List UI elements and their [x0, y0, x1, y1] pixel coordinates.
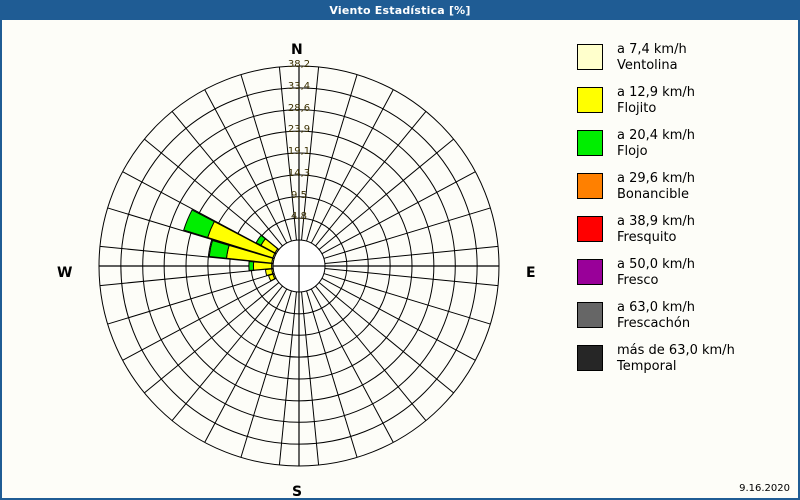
legend: a 7,4 km/hVentolinaa 12,9 km/hFlojitoa 2… [577, 42, 795, 386]
legend-item: a 12,9 km/hFlojito [577, 85, 795, 117]
legend-label: a 29,6 km/hBonancible [617, 171, 695, 203]
window-title-bar: Viento Estadística [%] [2, 2, 798, 20]
legend-item: a 20,4 km/hFlojo [577, 128, 795, 160]
legend-label: a 20,4 km/hFlojo [617, 128, 695, 160]
radial-tick-label: 4,8 [279, 211, 319, 222]
legend-item: a 38,9 km/hFresquito [577, 214, 795, 246]
legend-label-name: Fresco [617, 273, 695, 289]
radial-tick-label: 9,5 [279, 190, 319, 201]
radial-tick-label: 19,1 [279, 146, 319, 157]
legend-label-speed: a 7,4 km/h [617, 42, 687, 58]
radial-tick-label: 38,2 [279, 59, 319, 70]
date-stamp: 9.16.2020 [739, 483, 790, 494]
legend-swatch [577, 44, 603, 70]
legend-label: a 38,9 km/hFresquito [617, 214, 695, 246]
legend-label-speed: a 38,9 km/h [617, 214, 695, 230]
radial-tick-label: 28,6 [279, 103, 319, 114]
legend-label: a 50,0 km/hFresco [617, 257, 695, 289]
grid-spoke [324, 274, 491, 325]
chart-window: Viento Estadística [%] N S W E 4,89,514,… [0, 0, 800, 500]
legend-swatch [577, 302, 603, 328]
chart-canvas: N S W E 4,89,514,319,123,928,633,438,2 a… [2, 20, 798, 498]
grid-spoke [108, 274, 275, 325]
legend-item: a 29,6 km/hBonancible [577, 171, 795, 203]
legend-label-speed: a 50,0 km/h [617, 257, 695, 273]
legend-swatch [577, 259, 603, 285]
window-title: Viento Estadística [%] [329, 4, 470, 17]
legend-label-name: Fresquito [617, 230, 695, 246]
legend-label: a 12,9 km/hFlojito [617, 85, 695, 117]
grid-spoke [307, 291, 358, 458]
legend-label-speed: a 12,9 km/h [617, 85, 695, 101]
radial-tick-label: 33,4 [279, 81, 319, 92]
legend-label-name: Temporal [617, 359, 735, 375]
compass-label-north: N [291, 42, 303, 58]
legend-swatch [577, 216, 603, 242]
wind-rose-plot: N S W E 4,89,514,319,123,928,633,438,2 [2, 20, 562, 498]
legend-swatch [577, 87, 603, 113]
legend-label-name: Bonancible [617, 187, 695, 203]
compass-label-west: W [57, 265, 72, 281]
legend-item: a 7,4 km/hVentolina [577, 42, 795, 74]
compass-label-east: E [526, 265, 536, 281]
grid-spoke [324, 208, 491, 259]
legend-label-speed: a 63,0 km/h [617, 300, 695, 316]
legend-label: a 7,4 km/hVentolina [617, 42, 687, 74]
legend-label-speed: a 20,4 km/h [617, 128, 695, 144]
legend-swatch [577, 173, 603, 199]
legend-label: a 63,0 km/hFrescachón [617, 300, 695, 332]
legend-item: más de 63,0 km/hTemporal [577, 343, 795, 375]
legend-label-name: Frescachón [617, 316, 695, 332]
wind-petal-segment [249, 261, 254, 270]
grid-spoke [241, 291, 292, 458]
legend-swatch [577, 345, 603, 371]
radial-tick-label: 23,9 [279, 124, 319, 135]
legend-item: a 63,0 km/hFrescachón [577, 300, 795, 332]
wind-petals [184, 210, 279, 281]
legend-label: más de 63,0 km/hTemporal [617, 343, 735, 375]
legend-label-name: Ventolina [617, 58, 687, 74]
legend-label-speed: más de 63,0 km/h [617, 343, 735, 359]
radial-tick-label: 14,3 [279, 168, 319, 179]
legend-swatch [577, 130, 603, 156]
legend-item: a 50,0 km/hFresco [577, 257, 795, 289]
legend-label-name: Flojo [617, 144, 695, 160]
compass-label-south: S [292, 484, 302, 500]
legend-label-name: Flojito [617, 101, 695, 117]
legend-label-speed: a 29,6 km/h [617, 171, 695, 187]
